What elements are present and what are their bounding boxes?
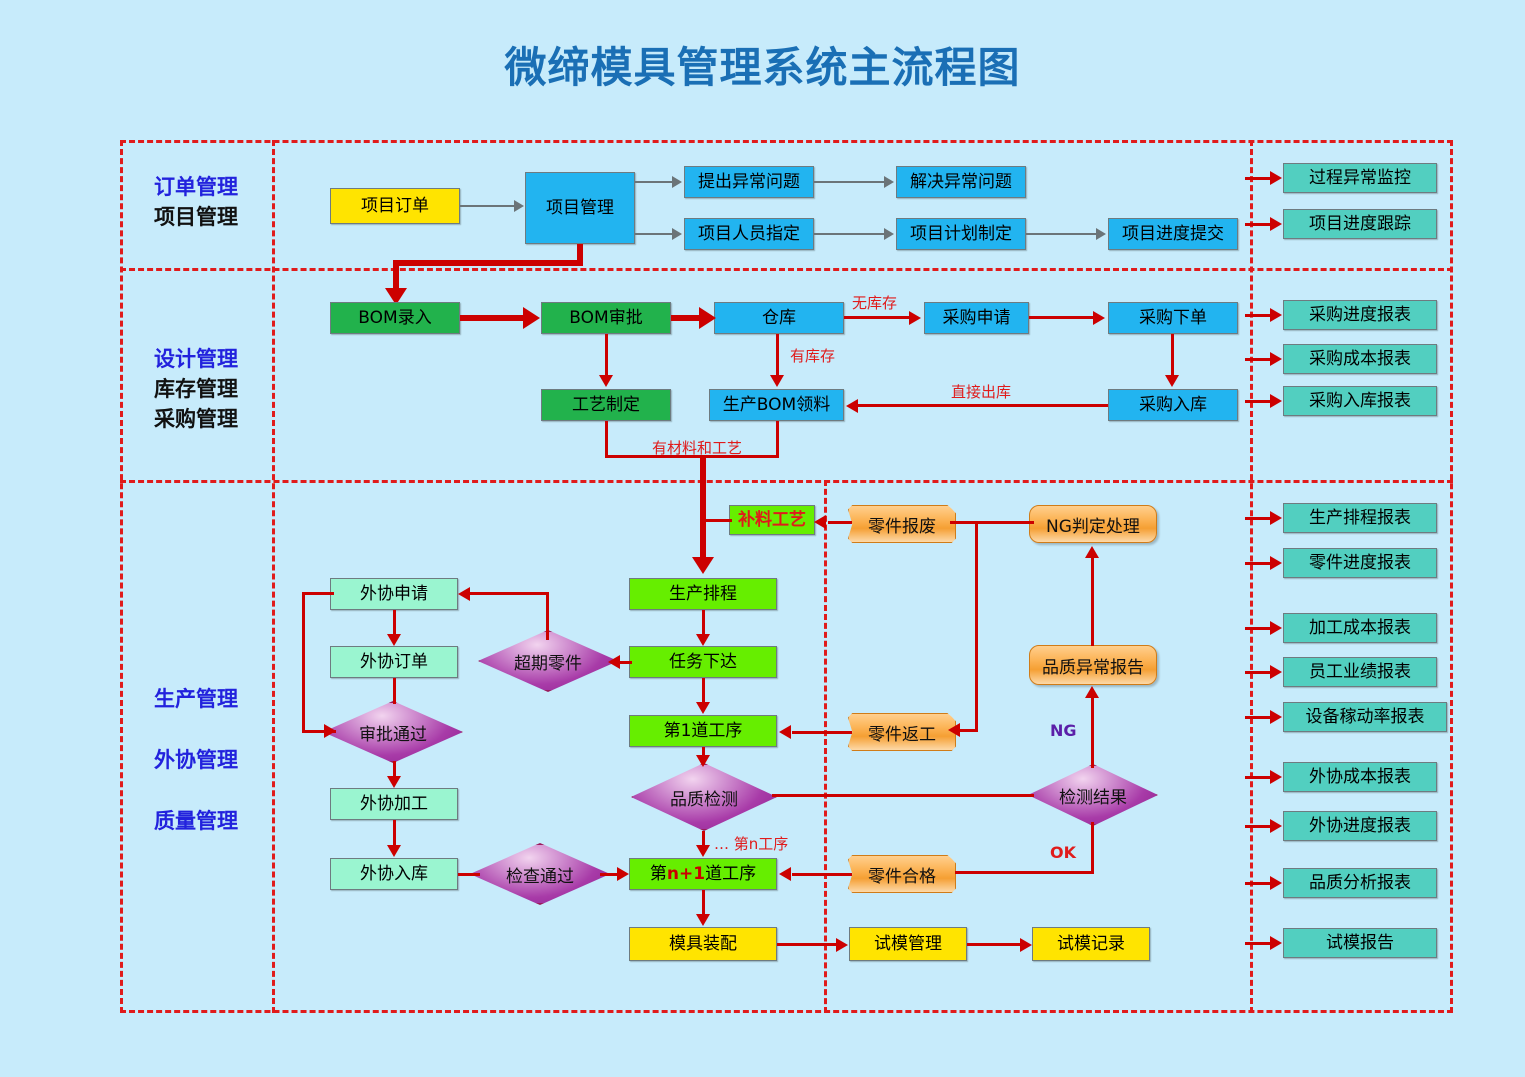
node-outsource-request[interactable]: 外协申请: [330, 578, 458, 610]
report-box[interactable]: 试模报告: [1283, 928, 1437, 958]
node-bom-entry[interactable]: BOM录入: [330, 302, 460, 334]
node-resolve-exception[interactable]: 解决异常问题: [896, 166, 1026, 198]
arrow-task-to-op1: [696, 702, 710, 714]
arrow-purchaseorder-down: [1165, 375, 1179, 387]
edge-quality-to-inspection: [772, 794, 1034, 797]
arrow-trial-to-record: [1020, 938, 1032, 952]
edge-merge-down: [700, 455, 706, 562]
edge-mgmt-left: [393, 260, 583, 266]
report-arrow-line: [1245, 627, 1271, 630]
edge-plan-to-submit: [1026, 233, 1096, 235]
edge-mgmt-to-raise: [635, 181, 673, 183]
arrow-plan-to-submit: [1096, 228, 1106, 240]
lane-label-design-1: 设计管理: [121, 344, 271, 374]
node-operation-n-plus-1[interactable]: 第n+1道工序: [629, 858, 777, 890]
edge-inbound-to-picking: [858, 404, 1108, 407]
node-task-release[interactable]: 任务下达: [629, 646, 777, 678]
report-label: 项目进度跟踪: [1309, 215, 1411, 234]
edge-approve-to-osproc: [393, 761, 396, 777]
report-label: 加工成本报表: [1309, 619, 1411, 638]
production-inner-divider: [824, 480, 827, 1013]
report-arrow-line: [1245, 942, 1271, 945]
edge-label-no-stock: 无库存: [852, 292, 897, 313]
node-warehouse[interactable]: 仓库: [714, 302, 844, 334]
arrow-quality-to-opn1: [696, 845, 710, 857]
edge-processplan-down: [605, 421, 608, 457]
arrow-assign-to-plan: [884, 228, 894, 240]
node-part-rework[interactable]: 零件返工: [848, 713, 956, 751]
edge-inspection-to-report: [1091, 698, 1094, 768]
arrow-rework-to-op1: [779, 725, 791, 739]
report-arrow-head: [1270, 511, 1282, 525]
node-project-management[interactable]: 项目管理: [525, 172, 635, 244]
arrow-mgmt-to-raise: [672, 176, 682, 188]
edge-osorder-to-approve: [393, 678, 396, 704]
node-outsource-inbound[interactable]: 外协入库: [330, 858, 458, 890]
lane-label-production: 生产管理 外协管理 质量管理: [121, 684, 271, 836]
report-arrow-line: [1245, 314, 1271, 317]
node-process-plan[interactable]: 工艺制定: [541, 389, 671, 421]
lane-label-order-2: 项目管理: [121, 202, 271, 232]
report-label: 过程异常监控: [1309, 169, 1411, 188]
report-label: 采购入库报表: [1309, 392, 1411, 411]
report-arrow-line: [1245, 825, 1271, 828]
edge-raise-to-resolve: [814, 181, 884, 183]
report-box[interactable]: 外协成本报表: [1283, 762, 1437, 792]
arrow-order-to-mgmt: [514, 200, 524, 212]
edge-label-ok: OK: [1050, 843, 1076, 862]
report-arrow-head: [1270, 352, 1282, 366]
arrow-schedule-to-task: [696, 634, 710, 646]
arrow-request-to-order: [1093, 311, 1105, 325]
report-arrow-head: [1270, 394, 1282, 408]
edge-osinbound-to-check: [458, 873, 480, 876]
arrow-task-to-overdue: [608, 655, 620, 669]
arrow-assembly-to-trial: [836, 938, 848, 952]
node-purchase-order[interactable]: 采购下单: [1108, 302, 1238, 334]
node-purchase-inbound[interactable]: 采购入库: [1108, 389, 1238, 421]
flowchart-canvas: 微缔模具管理系统主流程图 订单管理 项目管理 设计管理 库存管理 采购管理 生产…: [0, 0, 1525, 1077]
report-arrow-head: [1270, 556, 1282, 570]
edge-assembly-to-trial: [777, 943, 837, 946]
report-arrow-head: [1270, 621, 1282, 635]
report-box[interactable]: 采购入库报表: [1283, 386, 1437, 416]
node-make-plan[interactable]: 项目计划制定: [896, 218, 1026, 250]
report-label: 品质分析报表: [1309, 874, 1411, 893]
lane-label-design: 设计管理 库存管理 采购管理: [121, 344, 271, 434]
node-part-scrap[interactable]: 零件报废: [848, 505, 956, 543]
report-label: 生产排程报表: [1309, 509, 1411, 528]
arrow-mgmt-to-assign: [672, 228, 682, 240]
edge-report-to-ng: [1091, 558, 1094, 646]
report-box[interactable]: 过程异常监控: [1283, 163, 1437, 193]
edge-bomapprove-down: [605, 334, 608, 376]
arrow-ng-to-rework: [948, 723, 960, 737]
arrow-inbound-to-picking: [846, 399, 858, 413]
node-replenish-process[interactable]: 补料工艺: [729, 505, 815, 535]
lane-divider-design-production: [120, 480, 1453, 483]
edge-osreq-to-osorder: [393, 610, 396, 635]
arrow-osproc-to-osinbound: [387, 845, 401, 857]
edge-label-nth-process: … 第n工序: [714, 833, 788, 854]
arrow-check-to-opn1: [617, 867, 629, 881]
report-arrow-head: [1270, 936, 1282, 950]
report-box[interactable]: 采购成本报表: [1283, 344, 1437, 374]
lane-label-design-2: 库存管理: [121, 374, 271, 404]
page-title: 微缔模具管理系统主流程图: [0, 34, 1525, 95]
arrow-warehouse-to-request: [909, 311, 921, 325]
report-box[interactable]: 加工成本报表: [1283, 613, 1437, 643]
arrow-bomapprove-to-warehouse: [699, 307, 716, 329]
arrow-approve-to-osproc: [387, 776, 401, 788]
edge-warehouse-to-request: [844, 316, 910, 319]
report-label: 试模报告: [1326, 934, 1394, 953]
report-box[interactable]: 生产排程报表: [1283, 503, 1437, 533]
edge-label-ng: NG: [1050, 721, 1077, 740]
node-production-schedule[interactable]: 生产排程: [629, 578, 777, 610]
node-purchase-request[interactable]: 采购申请: [924, 302, 1029, 334]
edge-ok-to-qualified: [955, 871, 1094, 874]
edge-trial-to-record: [967, 943, 1021, 946]
node-assign-people[interactable]: 项目人员指定: [684, 218, 814, 250]
arrow-raise-to-resolve: [884, 176, 894, 188]
report-label: 采购成本报表: [1309, 350, 1411, 369]
arrow-op1-to-quality: [696, 755, 710, 767]
node-outsource-process[interactable]: 外协加工: [330, 788, 458, 820]
edge-task-to-overdue: [620, 661, 632, 664]
report-label: 设备稼动率报表: [1306, 708, 1425, 727]
report-arrow-line: [1245, 671, 1271, 674]
edge-osproc-to-osinbound: [393, 820, 396, 846]
arrow-qualified-to-opn1: [779, 867, 791, 881]
node-outsource-order[interactable]: 外协订单: [330, 646, 458, 678]
arrow-bomapprove-down: [599, 375, 613, 387]
report-box[interactable]: 品质分析报表: [1283, 868, 1437, 898]
edge-bomentry-to-bomapprove: [460, 315, 524, 321]
edge-rework-to-op1: [792, 731, 852, 734]
edge-label-has-material: 有材料和工艺: [652, 437, 742, 458]
edge-approve-reject-top: [302, 592, 334, 595]
report-arrow-line: [1245, 562, 1271, 565]
report-arrow-line: [1245, 776, 1271, 779]
edge-request-to-order: [1029, 316, 1094, 319]
report-box[interactable]: 项目进度跟踪: [1283, 209, 1437, 239]
edge-qualified-to-opn1: [792, 873, 852, 876]
node-trial-record[interactable]: 试模记录: [1032, 927, 1150, 961]
edge-ng-to-scrap-rework: [950, 521, 1034, 524]
report-arrow-line: [1245, 882, 1271, 885]
edge-picking-down: [776, 421, 779, 457]
node-ng-handling[interactable]: NG判定处理: [1029, 505, 1157, 543]
report-arrow-head: [1270, 308, 1282, 322]
report-box[interactable]: 外协进度报表: [1283, 811, 1437, 841]
op-n1-label: 第n+1道工序: [650, 865, 756, 884]
edge-overdue-to-osreq: [470, 592, 548, 595]
report-arrow-line: [1245, 223, 1271, 226]
node-mold-assembly[interactable]: 模具装配: [629, 927, 777, 961]
edge-overdue-up: [546, 592, 549, 640]
report-label: 零件进度报表: [1309, 554, 1411, 573]
report-arrow-head: [1270, 876, 1282, 890]
node-quality-abnormal-report[interactable]: 品质异常报告: [1029, 645, 1157, 685]
arrow-scrap-to-replenish: [814, 515, 826, 529]
arrow-inspection-to-report: [1085, 686, 1099, 698]
lane-label-production-1: 生产管理: [121, 684, 271, 714]
edge-order-to-mgmt: [460, 205, 515, 207]
report-box[interactable]: 员工业绩报表: [1283, 657, 1437, 687]
edge-ng-branch-down: [975, 521, 978, 730]
edge-task-to-op1: [702, 678, 705, 703]
edge-opn1-to-assembly: [702, 890, 705, 915]
lane-label-production-2: 外协管理: [121, 745, 271, 775]
arrow-overdue-to-osreq: [458, 587, 470, 601]
report-arrow-line: [1245, 177, 1271, 180]
arrow-bomentry-to-bomapprove: [523, 307, 540, 329]
arrow-report-to-ng: [1085, 546, 1099, 558]
arrow-approve-reject: [324, 724, 336, 738]
lane-label-order-1: 订单管理: [121, 172, 271, 202]
report-box[interactable]: 采购进度报表: [1283, 300, 1437, 330]
lane-label-production-3: 质量管理: [121, 806, 271, 836]
edge-mgmt-to-assign: [635, 233, 673, 235]
node-project-order[interactable]: 项目订单: [330, 188, 460, 224]
edge-replenish-into-main: [700, 519, 732, 522]
edge-schedule-to-task: [702, 610, 705, 635]
edge-inspection-ok-down: [1091, 822, 1094, 874]
report-arrow-head: [1270, 171, 1282, 185]
edge-purchaseorder-down: [1171, 334, 1174, 376]
edge-label-has-stock: 有库存: [790, 345, 835, 366]
report-arrow-line: [1245, 358, 1271, 361]
report-arrow-head: [1270, 819, 1282, 833]
report-box[interactable]: 零件进度报表: [1283, 548, 1437, 578]
report-arrow-head: [1270, 217, 1282, 231]
lane-label-design-3: 采购管理: [121, 404, 271, 434]
report-label: 外协进度报表: [1309, 817, 1411, 836]
edge-to-bom-entry: [393, 260, 399, 290]
node-bom-approve[interactable]: BOM审批: [541, 302, 671, 334]
node-operation-first[interactable]: 第1道工序: [629, 715, 777, 747]
node-part-qualified[interactable]: 零件合格: [848, 855, 956, 893]
arrow-merge-to-schedule: [692, 557, 714, 574]
report-arrow-line: [1245, 400, 1271, 403]
edge-approve-reject-up: [302, 592, 305, 732]
node-submit-progress[interactable]: 项目进度提交: [1108, 218, 1238, 250]
edge-scrap-to-replenish: [828, 521, 852, 524]
lane-divider-order-design: [120, 268, 1453, 271]
edge-warehouse-down: [776, 334, 779, 376]
arrow-opn1-to-assembly: [696, 914, 710, 926]
arrow-osreq-to-osorder: [387, 634, 401, 646]
report-arrow-head: [1270, 710, 1282, 724]
report-arrow-head: [1270, 665, 1282, 679]
edge-label-direct-out: 直接出库: [951, 381, 1011, 402]
lane-label-order: 订单管理 项目管理: [121, 172, 271, 232]
edge-ng-to-rework: [960, 729, 978, 732]
node-bom-picking[interactable]: 生产BOM领料: [709, 389, 844, 421]
edge-assign-to-plan: [814, 233, 884, 235]
node-raise-exception[interactable]: 提出异常问题: [684, 166, 814, 198]
report-arrow-line: [1245, 517, 1271, 520]
report-label: 员工业绩报表: [1309, 663, 1411, 682]
report-label: 采购进度报表: [1309, 306, 1411, 325]
arrow-warehouse-down: [770, 375, 784, 387]
report-label: 外协成本报表: [1309, 768, 1411, 787]
report-arrow-line: [1245, 716, 1271, 719]
report-arrow-head: [1270, 770, 1282, 784]
report-box[interactable]: 设备稼动率报表: [1283, 702, 1447, 732]
edge-bomapprove-to-warehouse: [671, 315, 701, 321]
node-trial-management[interactable]: 试模管理: [849, 927, 967, 961]
